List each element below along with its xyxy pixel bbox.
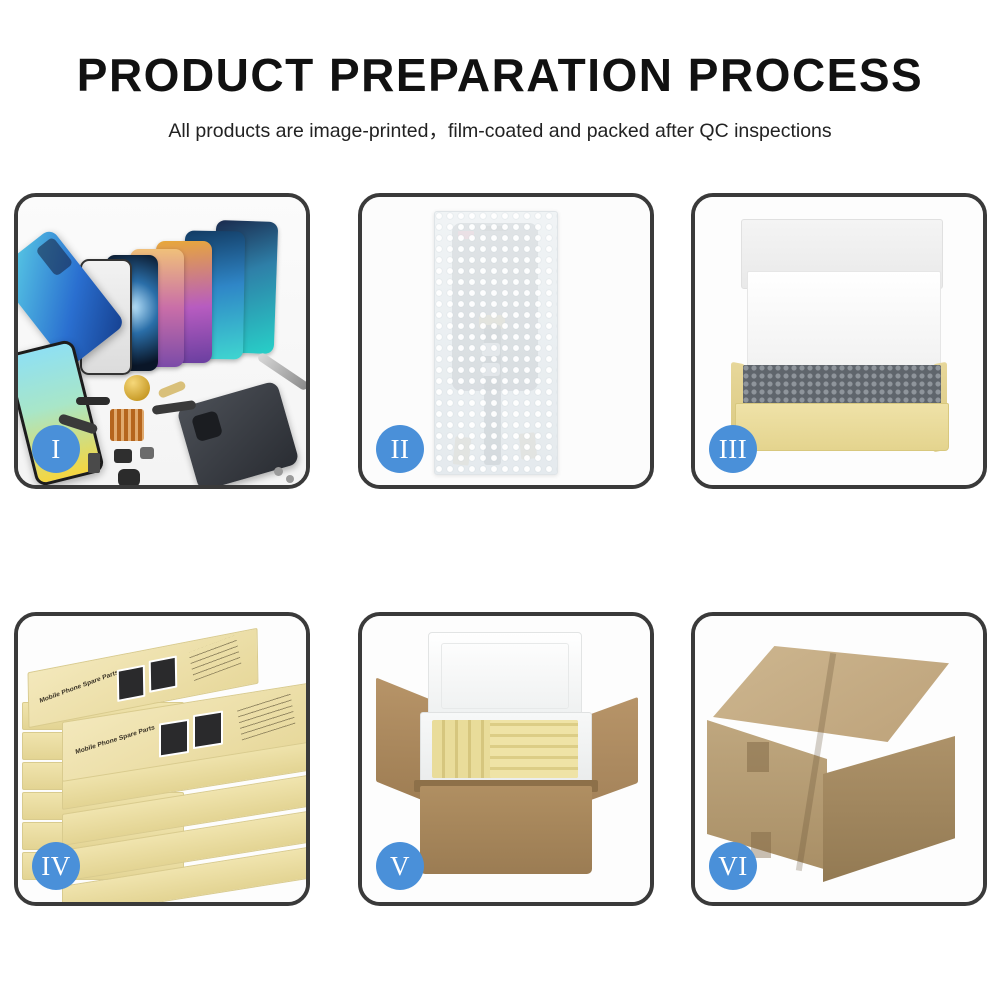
kraft-inner-box-icon	[735, 403, 949, 451]
step-panel-5: V	[358, 612, 654, 906]
foam-cooler-lid-icon	[428, 632, 582, 720]
white-foam-lid-icon	[747, 271, 941, 371]
step-badge-5: V	[376, 842, 424, 890]
product-preparation-infographic: PRODUCT PREPARATION PROCESS All products…	[0, 0, 1000, 1000]
carton-tape-upper	[747, 742, 769, 772]
box-label-text: Mobile Phone Spare Parts	[75, 724, 155, 756]
dark-foam-bed-icon	[743, 365, 941, 407]
steps-grid: I II	[0, 0, 1000, 1000]
step-panel-3: III	[691, 193, 987, 489]
step-badge-1: I	[32, 425, 80, 473]
step-panel-4: Mobile Phone Spare Parts Mobile Phone Sp…	[14, 612, 310, 906]
step-panel-1: I	[14, 193, 310, 489]
step-badge-3: III	[709, 425, 757, 473]
box-label-text-top: Mobile Phone Spare Parts	[39, 669, 119, 705]
step-badge-4: IV	[32, 842, 80, 890]
step-badge-2: II	[376, 425, 424, 473]
bubble-wrap-icon	[434, 211, 558, 475]
step-badge-6: VI	[709, 842, 757, 890]
step-panel-6: VI	[691, 612, 987, 906]
step-panel-2: II	[358, 193, 654, 489]
carton-body-icon	[420, 786, 592, 874]
